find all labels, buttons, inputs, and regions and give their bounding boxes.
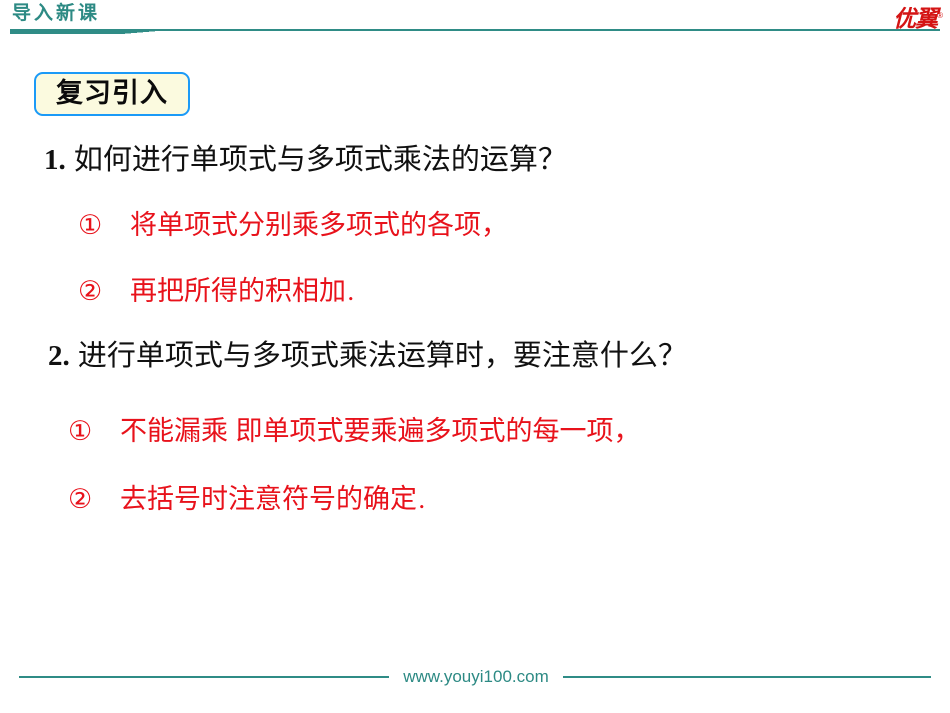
section-badge-label: 复习引入 xyxy=(56,79,168,109)
answer-2-2-period: ． xyxy=(417,491,437,513)
page-title: 导入新课 xyxy=(12,1,100,27)
answer-1-2: ②再把所得的积相加． xyxy=(78,272,366,313)
registered-trademark-icon: ® xyxy=(937,11,942,20)
brand-logo: 优翼® xyxy=(893,3,942,32)
slide-header: 导入新课 优翼® xyxy=(0,0,950,42)
question-1: 1. 如何进行单项式与多项式乘法的运算？ xyxy=(44,140,567,180)
answer-1-1-marker: ① xyxy=(78,206,130,244)
question-1-text: 如何进行单项式与多项式乘法的运算？ xyxy=(74,144,567,176)
answer-1-2-marker: ② xyxy=(78,272,130,310)
section-badge: 复习引入 xyxy=(34,72,190,116)
footer-rule-left xyxy=(19,676,389,678)
header-underline-thick xyxy=(10,29,122,34)
answer-2-2-text: 去括号时注意符号的确定 xyxy=(120,484,417,514)
question-1-number: 1. xyxy=(44,144,66,176)
header-underline-taper-icon xyxy=(122,29,182,34)
header-underline-thin xyxy=(122,29,940,31)
answer-1-2-period: ． xyxy=(346,283,366,305)
footer-rule-right xyxy=(563,676,931,678)
slide-footer: www.youyi100.com xyxy=(0,662,950,692)
answer-1-2-text: 再把所得的积相加 xyxy=(130,276,346,306)
answer-2-1-text: 不能漏乘 即单项式要乘遍多项式的每一项， xyxy=(120,416,641,446)
answer-1-1: ①将单项式分别乘多项式的各项， xyxy=(78,206,508,244)
answer-2-1: ①不能漏乘 即单项式要乘遍多项式的每一项， xyxy=(68,412,641,450)
answer-2-2: ②去括号时注意符号的确定． xyxy=(68,480,437,521)
brand-logo-text: 优翼 xyxy=(893,6,937,32)
footer-url: www.youyi100.com xyxy=(389,667,563,687)
question-2-text: 进行单项式与多项式乘法运算时，要注意什么？ xyxy=(78,340,687,372)
question-2-number: 2. xyxy=(48,340,70,372)
answer-1-1-text: 将单项式分别乘多项式的各项， xyxy=(130,210,508,240)
question-2: 2. 进行单项式与多项式乘法运算时，要注意什么？ xyxy=(48,336,687,376)
answer-2-2-marker: ② xyxy=(68,480,120,518)
answer-2-1-marker: ① xyxy=(68,412,120,450)
